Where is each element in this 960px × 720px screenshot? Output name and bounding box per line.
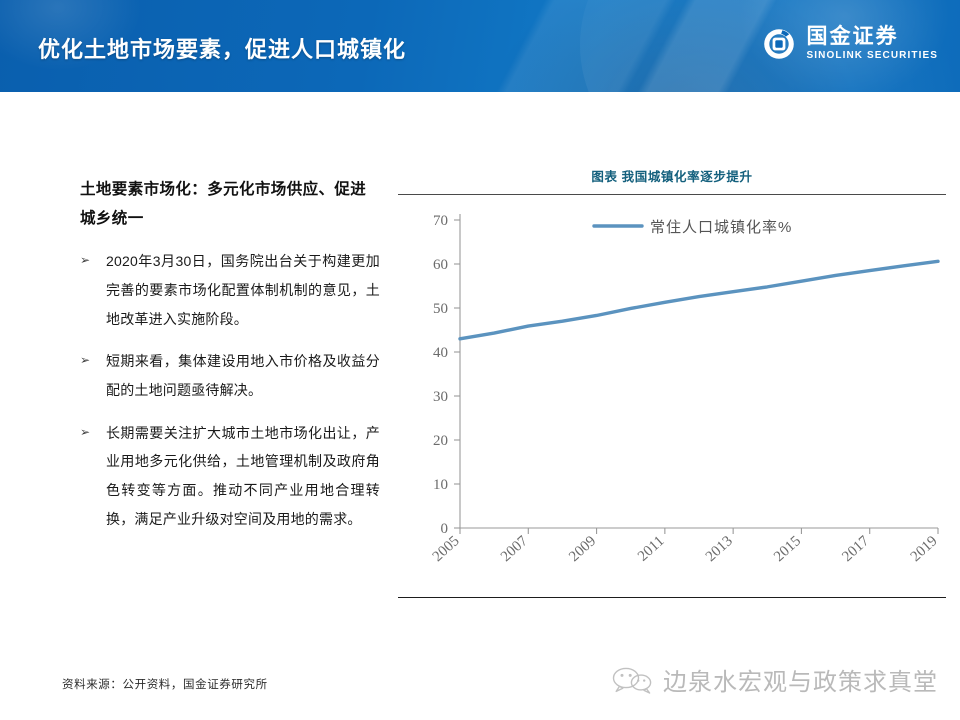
y-axis-tick-label: 60 [433, 257, 448, 273]
y-axis-tick-label: 10 [433, 477, 448, 493]
x-axis-tick-label: 2005 [430, 533, 463, 565]
chart-top-rule [398, 194, 946, 195]
brand-logo: 国金证券 SINOLINK SECURITIES [762, 26, 938, 61]
bullet-list: ➢ 2020年3月30日，国务院出台关于构建更加完善的要素市场化配置体制机制的意… [80, 247, 380, 533]
x-axis-tick-label: 2017 [839, 533, 872, 565]
chart-bottom-rule [398, 597, 946, 598]
y-axis-tick-label: 0 [441, 521, 449, 537]
arrow-bullet-icon: ➢ [80, 419, 106, 445]
arrow-bullet-icon: ➢ [80, 347, 106, 373]
sinolink-ring-logo-icon [762, 27, 796, 61]
chart-title: 图表 我国城镇化率逐步提升 [398, 158, 946, 185]
list-item: ➢ 2020年3月30日，国务院出台关于构建更加完善的要素市场化配置体制机制的意… [80, 247, 380, 333]
chart-plot-area: 0102030405060702005200720092011201320152… [398, 198, 946, 596]
x-axis-tick-label: 2013 [703, 533, 736, 565]
list-item-text: 短期来看，集体建设用地入市价格及收益分配的土地问题亟待解决。 [106, 347, 380, 404]
watermark-text: 边泉水宏观与政策求真堂 [663, 662, 938, 697]
list-item-text: 长期需要关注扩大城市土地市场化出让，产业用地多元化供给，土地管理机制及政府角色转… [106, 419, 380, 534]
header-banner: 优化土地市场要素，促进人口城镇化 国金证券 SINOLINK SECURITIE… [0, 0, 960, 92]
x-axis-tick-label: 2011 [635, 533, 668, 565]
data-series-line [460, 261, 938, 338]
arrow-bullet-icon: ➢ [80, 247, 106, 273]
source-note: 资料来源：公开资料，国金证券研究所 [62, 676, 268, 692]
logo-text-cn: 国金证券 [807, 26, 938, 47]
list-item-text: 2020年3月30日，国务院出台关于构建更加完善的要素市场化配置体制机制的意见，… [106, 247, 380, 333]
y-axis-tick-label: 20 [433, 433, 448, 449]
page-title: 优化土地市场要素，促进人口城镇化 [38, 32, 406, 64]
legend-label: 常住人口城镇化率% [650, 219, 792, 236]
watermark: 边泉水宏观与政策求真堂 [611, 662, 938, 697]
x-axis-tick-label: 2019 [908, 533, 941, 565]
y-axis-tick-label: 30 [433, 389, 448, 405]
logo-text-en: SINOLINK SECURITIES [807, 51, 938, 61]
x-axis-tick-label: 2007 [498, 533, 531, 565]
wechat-bubble-icon [611, 665, 653, 695]
y-axis-tick-label: 50 [433, 301, 448, 317]
x-axis-tick-label: 2009 [566, 533, 599, 565]
x-axis-tick-label: 2015 [771, 533, 804, 565]
y-axis-tick-label: 70 [433, 213, 448, 229]
list-item: ➢ 短期来看，集体建设用地入市价格及收益分配的土地问题亟待解决。 [80, 347, 380, 404]
y-axis-tick-label: 40 [433, 345, 448, 361]
chart-panel: 图表 我国城镇化率逐步提升 01020304050607020052007200… [398, 158, 946, 598]
slide-root: 优化土地市场要素，促进人口城镇化 国金证券 SINOLINK SECURITIE… [0, 0, 960, 720]
list-item: ➢ 长期需要关注扩大城市土地市场化出让，产业用地多元化供给，土地管理机制及政府角… [80, 419, 380, 534]
content-text-column: 土地要素市场化：多元化市场供应、促进城乡统一 ➢ 2020年3月30日，国务院出… [80, 176, 380, 548]
section-heading: 土地要素市场化：多元化市场供应、促进城乡统一 [80, 176, 380, 233]
